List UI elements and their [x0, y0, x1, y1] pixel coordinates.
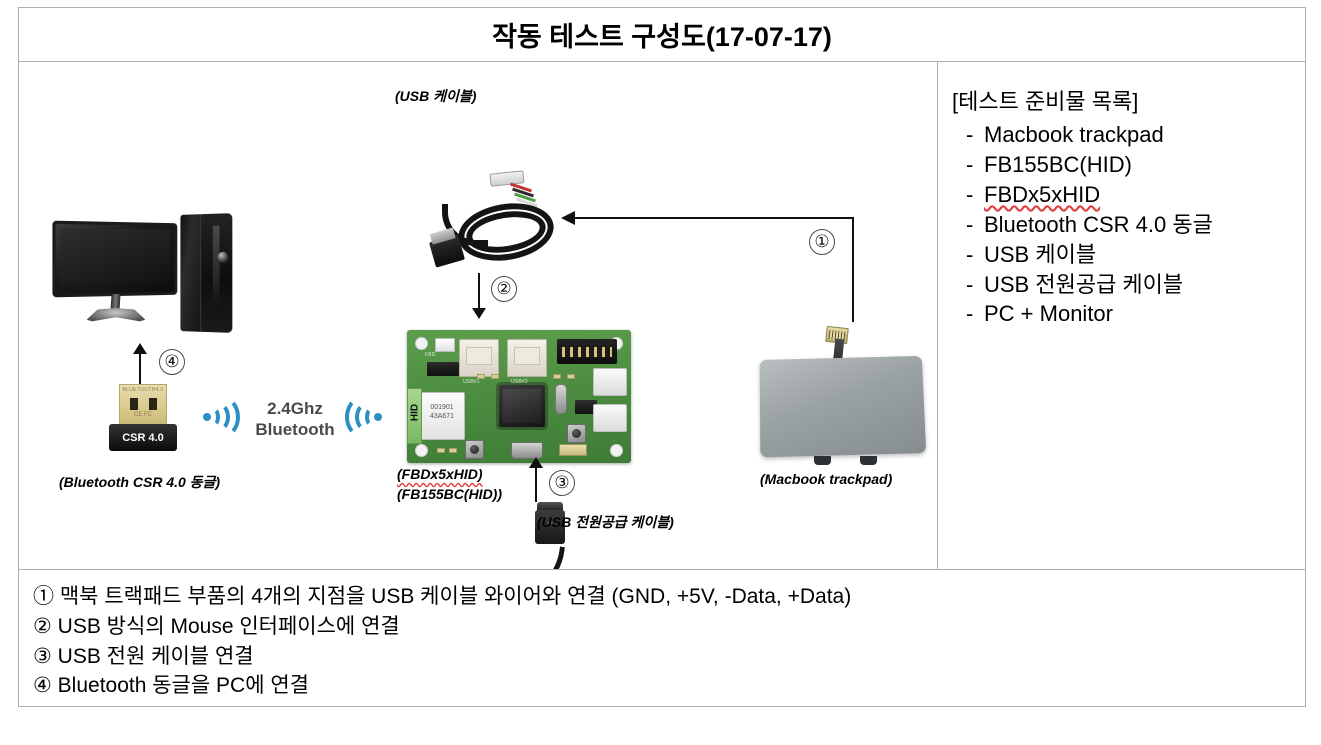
- parts-list: - Macbook trackpad - FB155BC(HID) - FBDx…: [950, 120, 1305, 329]
- dongle-top-text: BLUETOOTH4.0: [120, 387, 166, 393]
- trackpad-foot-right: [860, 456, 877, 465]
- list-item-label: Macbook trackpad: [984, 120, 1164, 150]
- list-item: - Macbook trackpad: [950, 120, 1305, 150]
- board-white-connector-b: [593, 404, 627, 432]
- caption-bluetooth-dongle: (Bluetooth CSR 4.0 동글): [59, 472, 220, 492]
- monitor-screen: [52, 221, 177, 298]
- board-module-code-line1: 001901: [420, 404, 464, 413]
- usb-cable-image: [424, 170, 564, 280]
- bluetooth-wave-right-icon: [337, 392, 383, 442]
- arrow-two-head: [472, 308, 486, 319]
- arrow-three-shaft: [535, 466, 537, 502]
- trackpad-surface: [760, 356, 927, 458]
- arrow-two-shaft: [478, 273, 480, 310]
- board-white-connector-small: [435, 338, 455, 352]
- list-item: - Bluetooth CSR 4.0 동글: [950, 210, 1305, 240]
- notes-panel: ① 맥북 트랙패드 부품의 4개의 지점을 USB 케이블 와이어와 연결 (G…: [19, 570, 1305, 706]
- parts-list-heading: [테스트 준비물 목록]: [952, 84, 1305, 116]
- caption-board-line1: (FBDx5xHID): [397, 466, 483, 482]
- bluetooth-wave-left-icon: [202, 392, 248, 442]
- list-bullet: -: [950, 120, 984, 150]
- slide-root: 작동 테스트 구성도(17-07-17) ④: [0, 0, 1321, 745]
- caption-usb-power-cable: (USB 전원공급 케이블): [537, 512, 674, 532]
- arrow-four-head: [133, 343, 147, 354]
- dongle-usb-connector: BLUETOOTH4.0 CE FC: [119, 384, 167, 426]
- marker-three: ③: [549, 470, 575, 496]
- list-item-label: Bluetooth CSR 4.0 동글: [984, 210, 1213, 240]
- board-tact-switch-2: [465, 440, 484, 459]
- board-hid-label-tab: HID: [407, 388, 422, 444]
- diagram-table-frame: 작동 테스트 구성도(17-07-17) ④: [18, 7, 1306, 707]
- board-smd-part-4: [567, 374, 575, 379]
- board-bluetooth-module: 001901 43A671: [419, 392, 465, 440]
- board-idc-pins: [562, 347, 612, 357]
- note-line-2: ② USB 방식의 Mouse 인터페이스에 연결: [33, 612, 1305, 642]
- board-silkscreen-usb1: USB#1: [463, 379, 480, 385]
- wireless-frequency: 2.4Ghz: [247, 398, 343, 419]
- board-hole-bottom-left: [415, 444, 428, 457]
- diagram-canvas: ④ BLUETOOTH4.0 CE FC CSR 4.0 (Bluetooth …: [19, 62, 938, 570]
- arrow-one-horizontal: [575, 217, 854, 219]
- marker-four: ④: [159, 349, 185, 375]
- dongle-body: CSR 4.0: [109, 424, 177, 451]
- dongle-cert-text: CE FC: [120, 412, 166, 418]
- board-smd-part-3: [553, 374, 561, 379]
- arrow-one-head: [561, 211, 575, 225]
- list-bullet: -: [950, 240, 984, 270]
- list-item: - FB155BC(HID): [950, 150, 1305, 180]
- list-bullet: -: [950, 150, 984, 180]
- wireless-protocol: Bluetooth: [247, 419, 343, 440]
- monitor-stand: [83, 308, 149, 323]
- bluetooth-dongle-image: BLUETOOTH4.0 CE FC CSR 4.0: [107, 384, 179, 452]
- marker-two: ②: [491, 276, 517, 302]
- board-module-code: 001901 43A671: [420, 404, 464, 422]
- trackpad-foot-left: [814, 456, 831, 465]
- dongle-body-label: CSR 4.0: [122, 432, 164, 444]
- board-silkscreen-left: FBD: [425, 352, 436, 358]
- pc-accent-strip: [213, 226, 220, 311]
- arrow-three-head: [529, 457, 543, 468]
- board-smd-part-2: [491, 374, 499, 379]
- board-silkscreen-usb2: USB#2: [511, 379, 528, 385]
- arrow-one-vertical: [852, 217, 854, 322]
- board-idc-header: [557, 339, 617, 364]
- caption-board-line1-text: (FBDx5xHID): [397, 466, 483, 482]
- list-bullet: -: [950, 299, 984, 329]
- wave-arc-left-3: [206, 396, 240, 438]
- pc-front-panel: [200, 213, 232, 333]
- list-bullet: -: [950, 270, 984, 300]
- list-item: - PC + Monitor: [950, 299, 1305, 329]
- list-item-label: USB 케이블: [984, 240, 1096, 270]
- board-hole-bottom-right: [610, 444, 623, 457]
- fbdx5xhid-board-image: 001901 43A671 HID FBD: [407, 330, 631, 463]
- board-smd-part-5: [437, 448, 445, 453]
- list-item-label: FBDx5xHID: [984, 180, 1100, 210]
- list-item-label: FB155BC(HID): [984, 150, 1132, 180]
- list-item-label: PC + Monitor: [984, 299, 1113, 329]
- caption-macbook-trackpad: (Macbook trackpad): [760, 471, 892, 487]
- board-hole-top-left: [415, 337, 428, 350]
- caption-board-line2: (FB155BC(HID)): [397, 486, 502, 502]
- board-usb-port-2: [507, 339, 547, 377]
- wave-arc-right-3: [345, 396, 379, 438]
- list-bullet: -: [950, 180, 984, 210]
- arrow-four-shaft: [139, 350, 141, 384]
- monitor-panel: [61, 228, 170, 285]
- board-crystal-oscillator: [555, 384, 567, 414]
- list-item-label: USB 전원공급 케이블: [984, 270, 1183, 300]
- dongle-slot-left: [130, 398, 138, 410]
- title-cell: 작동 테스트 구성도(17-07-17): [19, 8, 1305, 62]
- macbook-trackpad-image: [752, 327, 932, 465]
- parts-list-panel: [테스트 준비물 목록] - Macbook trackpad - FB155B…: [938, 62, 1305, 570]
- board-usb-port-1: [459, 339, 499, 377]
- dongle-slot-right: [149, 398, 157, 410]
- marker-one: ①: [809, 229, 835, 255]
- note-line-4: ④ Bluetooth 동글을 PC에 연결: [33, 671, 1305, 701]
- list-bullet: -: [950, 210, 984, 240]
- board-tact-switch-1: [567, 424, 586, 443]
- board-module-code-line2: 43A671: [420, 413, 464, 422]
- list-item: - USB 케이블: [950, 240, 1305, 270]
- board-microcontroller-chip: [499, 385, 545, 427]
- wireless-label: 2.4Ghz Bluetooth: [247, 398, 343, 441]
- board-white-connector-a: [593, 368, 627, 396]
- board-soic-chip: [427, 362, 459, 376]
- note-line-1: ① 맥북 트랙패드 부품의 4개의 지점을 USB 케이블 와이어와 연결 (G…: [33, 582, 1305, 612]
- list-item: - FBDx5xHID: [950, 180, 1305, 210]
- usb-cable-wire-header: [489, 170, 524, 186]
- board-smd-part-6: [449, 448, 457, 453]
- note-line-3: ③ USB 전원 케이블 연결: [33, 642, 1305, 672]
- pc-power-button-icon: [218, 252, 229, 263]
- board-hid-label: HID: [410, 397, 421, 429]
- caption-usb-cable: (USB 케이블): [395, 86, 476, 106]
- board-slide-switch: [559, 444, 587, 456]
- monitor-image: [53, 222, 181, 322]
- list-item: - USB 전원공급 케이블: [950, 270, 1305, 300]
- page-title: 작동 테스트 구성도(17-07-17): [492, 15, 832, 54]
- pc-tower-image: [180, 213, 232, 333]
